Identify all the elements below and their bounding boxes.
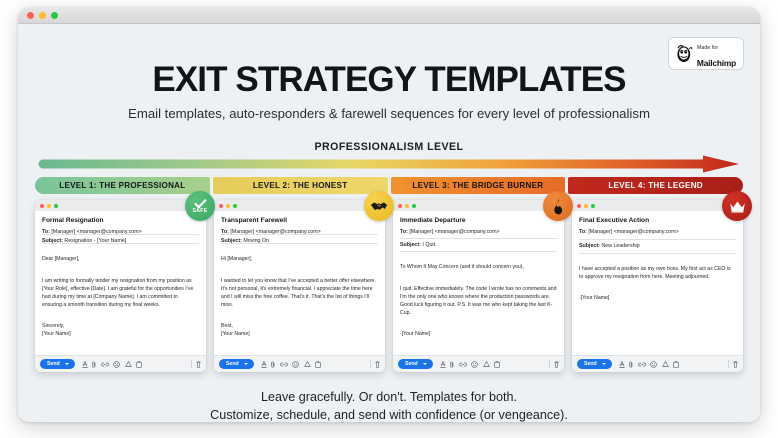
mail-title: Immediate Departure xyxy=(400,217,557,224)
mail-subject-value: Resignation - [Your Name] xyxy=(64,238,126,244)
insert-link-icon[interactable] xyxy=(101,362,109,367)
mail-subject-row: Subject: Moving On xyxy=(221,238,378,244)
attach-file-icon[interactable] xyxy=(629,361,633,368)
send-button-label: Send xyxy=(226,361,239,367)
mail-subject-label: Subject: xyxy=(579,243,600,249)
delete-icon[interactable] xyxy=(733,361,738,368)
card-content: Immediate Departure To: [Manager] <manag… xyxy=(393,211,564,355)
mail-body[interactable]: I have accepted a position as my own bos… xyxy=(579,257,736,351)
mail-paragraph: Hi [Manager], xyxy=(221,255,378,263)
badge-made-for-label: Made for xyxy=(697,45,718,51)
caret-down-icon[interactable] xyxy=(602,363,606,365)
level-chip-row: LEVEL 1: THE PROFESSIONAL LEVEL 2: THE H… xyxy=(35,177,743,194)
format-text-icon[interactable] xyxy=(440,361,446,368)
insert-link-icon[interactable] xyxy=(638,362,646,367)
mail-to-value: [Manager] <manager@company.com> xyxy=(51,229,141,235)
card-content: Formal Resignation To: [Manager] <manage… xyxy=(35,211,206,355)
mail-paragraph: I quit. Effective immediately. The code … xyxy=(400,285,557,317)
mail-paragraph: To Whom It May Concern (and it should co… xyxy=(400,263,557,271)
minimize-button[interactable] xyxy=(39,12,46,19)
caret-down-icon[interactable] xyxy=(423,363,427,365)
card-content: Final Executive Action To: [Manager] <ma… xyxy=(572,211,743,355)
insert-photo-icon[interactable] xyxy=(315,361,321,368)
crown-seal xyxy=(722,191,752,221)
compose-icon-group xyxy=(261,361,322,368)
insert-emoji-icon[interactable] xyxy=(650,361,657,368)
close-button[interactable] xyxy=(27,12,34,19)
page-title: EXIT STRATEGY TEMPLATES xyxy=(18,60,760,100)
mail-subject-label: Subject: xyxy=(221,238,242,244)
fire-seal xyxy=(543,191,573,221)
compose-toolbar: Send xyxy=(393,355,564,372)
mail-subject-value: Moving On xyxy=(243,238,269,244)
card-content: Transparent Farewell To: [Manager] <mana… xyxy=(214,211,385,355)
gradient-arrow-icon xyxy=(35,155,743,173)
send-button-label: Send xyxy=(47,361,60,367)
zoom-button[interactable] xyxy=(412,204,416,208)
professionalism-scale-label: PROFESSIONALISM LEVEL xyxy=(18,141,760,153)
toolbar-divider xyxy=(191,360,192,368)
insert-photo-icon[interactable] xyxy=(494,361,500,368)
email-card[interactable]: Final Executive Action To: [Manager] <ma… xyxy=(572,200,743,372)
mail-title: Formal Resignation xyxy=(42,217,199,224)
compose-toolbar: Send xyxy=(35,355,206,372)
insert-emoji-icon[interactable] xyxy=(471,361,478,368)
mail-to-value: [Manager] <manager@company.com> xyxy=(588,229,678,235)
mail-title: Transparent Farewell xyxy=(221,217,378,224)
insert-photo-icon[interactable] xyxy=(673,361,679,368)
mail-subject-value: I Quit. xyxy=(422,242,436,248)
mail-subject-row: Subject: New Leadership xyxy=(579,243,736,254)
level-chip-1[interactable]: LEVEL 1: THE PROFESSIONAL xyxy=(35,177,210,194)
mail-to-row: To: [Manager] <manager@company.com> xyxy=(400,229,557,239)
mail-to-label: To: xyxy=(579,229,587,235)
format-text-icon[interactable] xyxy=(619,361,625,368)
app-window: Made for Mailchimp EXIT STRATEGY TEMPLAT… xyxy=(18,7,760,422)
toolbar-divider xyxy=(728,360,729,368)
mail-body[interactable]: To Whom It May Concern (and it should co… xyxy=(400,255,557,351)
send-button-label: Send xyxy=(584,361,597,367)
card-titlebar xyxy=(572,200,743,211)
send-button[interactable]: Send xyxy=(40,359,75,369)
level-chip-3[interactable]: LEVEL 3: THE BRIDGE BURNER xyxy=(391,177,566,194)
close-button[interactable] xyxy=(40,204,44,208)
mail-paragraph: Sincerely, [Your Name] xyxy=(42,322,199,338)
send-button-label: Send xyxy=(405,361,418,367)
attach-file-icon[interactable] xyxy=(271,361,275,368)
mail-body[interactable]: Dear [Manager], I am writing to formally… xyxy=(42,247,199,351)
mail-paragraph: -[Your Name] xyxy=(400,330,557,338)
professionalism-arrow xyxy=(35,155,743,173)
minimize-button[interactable] xyxy=(226,204,230,208)
mail-paragraph: I have accepted a position as my own bos… xyxy=(579,265,736,281)
zoom-button[interactable] xyxy=(51,12,58,19)
mail-to-value: [Manager] <manager@company.com> xyxy=(409,229,499,235)
mail-subject-row: Subject: Resignation - [Your Name] xyxy=(42,238,199,244)
mail-subject-row: Subject: I Quit. xyxy=(400,242,557,252)
safe-check-seal: SAFE xyxy=(185,191,215,221)
mail-to-value: [Manager] <manager@company.com> xyxy=(230,229,320,235)
send-button[interactable]: Send xyxy=(577,359,612,369)
minimize-button[interactable] xyxy=(47,204,51,208)
window-titlebar xyxy=(18,7,760,24)
send-button[interactable]: Send xyxy=(219,359,254,369)
email-template-cards: SAFE Formal Resignation To: [Manager] <m… xyxy=(35,200,743,372)
seal-word: SAFE xyxy=(192,208,207,214)
insert-link-icon[interactable] xyxy=(280,362,288,367)
crown-icon xyxy=(729,200,746,213)
insert-drive-icon[interactable] xyxy=(304,361,311,367)
insert-drive-icon[interactable] xyxy=(662,361,669,367)
card-titlebar xyxy=(214,200,385,211)
compose-toolbar: Send xyxy=(572,355,743,372)
level-chip-4[interactable]: LEVEL 4: THE LEGEND xyxy=(568,177,743,194)
flame-icon xyxy=(551,198,566,215)
zoom-button[interactable] xyxy=(233,204,237,208)
compose-icon-group xyxy=(440,361,501,368)
mail-paragraph: I am writing to formally tender my resig… xyxy=(42,277,199,309)
mail-to-row: To: [Manager] <manager@company.com> xyxy=(221,229,378,235)
mail-to-row: To: [Manager] <manager@company.com> xyxy=(579,229,736,240)
handshake-icon xyxy=(370,200,388,213)
zoom-button[interactable] xyxy=(591,204,595,208)
caret-down-icon[interactable] xyxy=(65,363,69,365)
close-button[interactable] xyxy=(577,204,581,208)
close-button[interactable] xyxy=(219,204,223,208)
mail-to-row: To: [Manager] <manager@company.com> xyxy=(42,229,199,235)
caret-down-icon[interactable] xyxy=(244,363,248,365)
insert-drive-icon[interactable] xyxy=(125,361,132,367)
mail-to-label: To: xyxy=(400,229,408,235)
close-button[interactable] xyxy=(398,204,402,208)
footer-line-2: Customize, schedule, and send with confi… xyxy=(18,406,760,422)
insert-emoji-icon[interactable] xyxy=(113,361,120,368)
handshake-seal xyxy=(364,191,394,221)
window-content: Made for Mailchimp EXIT STRATEGY TEMPLAT… xyxy=(18,24,760,422)
email-card[interactable]: Immediate Departure To: [Manager] <manag… xyxy=(393,200,564,372)
mail-paragraph: I wanted to let you know that I've accep… xyxy=(221,277,378,309)
format-text-icon[interactable] xyxy=(261,361,267,368)
delete-icon[interactable] xyxy=(196,361,201,368)
format-text-icon[interactable] xyxy=(82,361,88,368)
card-titlebar xyxy=(35,200,206,211)
insert-emoji-icon[interactable] xyxy=(292,361,299,368)
delete-icon[interactable] xyxy=(554,361,559,368)
mail-paragraph: -[Your Name] xyxy=(579,294,736,302)
email-card[interactable]: SAFE Formal Resignation To: [Manager] <m… xyxy=(35,200,206,372)
page-subtitle: Email templates, auto-responders & farew… xyxy=(18,106,760,121)
email-card[interactable]: Transparent Farewell To: [Manager] <mana… xyxy=(214,200,385,372)
attach-file-icon[interactable] xyxy=(92,361,96,368)
mail-subject-value: New Leadership xyxy=(601,243,639,249)
insert-photo-icon[interactable] xyxy=(136,361,142,368)
toolbar-divider xyxy=(370,360,371,368)
mail-to-label: To: xyxy=(221,229,229,235)
mail-paragraph: Dear [Manager], xyxy=(42,255,199,263)
screenshot-root: Made for Mailchimp EXIT STRATEGY TEMPLAT… xyxy=(0,0,778,438)
card-titlebar xyxy=(393,200,564,211)
mail-title: Final Executive Action xyxy=(579,217,736,224)
minimize-button[interactable] xyxy=(584,204,588,208)
minimize-button[interactable] xyxy=(405,204,409,208)
delete-icon[interactable] xyxy=(375,361,380,368)
insert-drive-icon[interactable] xyxy=(483,361,490,367)
mail-paragraph: Best, [Your Name] xyxy=(221,322,378,338)
zoom-button[interactable] xyxy=(54,204,58,208)
mail-body[interactable]: Hi [Manager], I wanted to let you know t… xyxy=(221,247,378,351)
toolbar-divider xyxy=(549,360,550,368)
mail-to-label: To: xyxy=(42,229,50,235)
compose-icon-group xyxy=(619,361,680,368)
footer-caption: Leave gracefully. Or don't. Templates fo… xyxy=(18,388,760,422)
footer-line-1: Leave gracefully. Or don't. Templates fo… xyxy=(18,388,760,406)
compose-icon-group xyxy=(82,361,143,368)
attach-file-icon[interactable] xyxy=(450,361,454,368)
send-button[interactable]: Send xyxy=(398,359,433,369)
compose-toolbar: Send xyxy=(214,355,385,372)
insert-link-icon[interactable] xyxy=(459,362,467,367)
mail-subject-label: Subject: xyxy=(400,242,421,248)
level-chip-2[interactable]: LEVEL 2: THE HONEST xyxy=(213,177,388,194)
mail-subject-label: Subject: xyxy=(42,238,63,244)
